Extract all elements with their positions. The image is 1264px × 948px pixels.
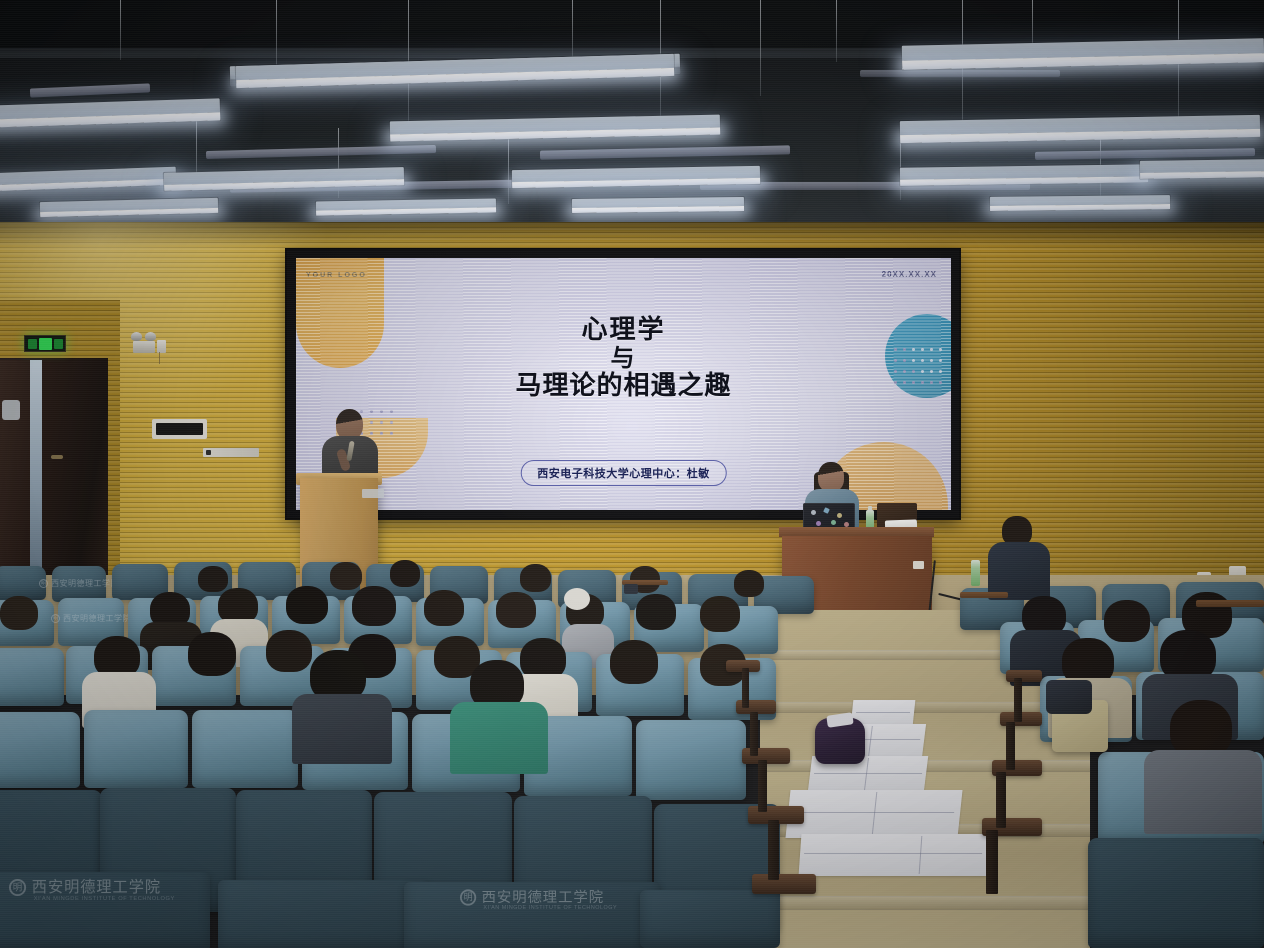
seat-logo-mark: 明 xyxy=(9,879,26,896)
armrest xyxy=(1006,670,1042,682)
door-gap-light xyxy=(30,360,42,574)
seat-brand-logo: 明 西安明德理工学院 XI'AN MINGDE INSTITUTE OF TEC… xyxy=(460,887,604,907)
seat-standard xyxy=(742,668,749,708)
seat[interactable] xyxy=(636,720,746,800)
wall-switch-plate[interactable] xyxy=(203,448,259,457)
table-label-plate xyxy=(913,561,924,569)
emergency-exit-icon xyxy=(24,335,66,352)
floor-paper-5 xyxy=(799,834,990,876)
seat-brand-logo: 明 西安明德理工学院 xyxy=(51,613,131,624)
seat-standard xyxy=(750,712,758,756)
seat-brand-cn: 西安明德理工学院 xyxy=(63,613,131,624)
door-open-panel[interactable] xyxy=(0,360,30,574)
lecture-hall-photo: YOUR LOGO 20XX.XX.XX 心理学 与 马理论的相遇之趣 西安电子… xyxy=(0,0,1264,948)
seat-standard xyxy=(986,830,998,894)
intercom-wire xyxy=(159,352,160,364)
backpack-on-steps xyxy=(815,718,865,764)
wall-vent-icon xyxy=(152,419,207,439)
emergency-light-box xyxy=(133,341,155,353)
emergency-light-icon xyxy=(131,332,157,341)
seat[interactable] xyxy=(1088,838,1264,948)
podium-side-shelf xyxy=(362,489,384,498)
water-bottle-floor xyxy=(971,560,980,586)
bag-strap xyxy=(1046,680,1092,714)
seat-back[interactable] xyxy=(218,880,430,948)
seat[interactable]: 明 西安明德理工学院 xyxy=(52,566,106,602)
seat[interactable] xyxy=(0,648,64,706)
seat-back-with-logo[interactable]: 明 西安明德理工学院 XI'AN MINGDE INSTITUTE OF TEC… xyxy=(404,882,660,948)
slide-date: 20XX.XX.XX xyxy=(882,270,937,279)
wall-top-shadow xyxy=(0,222,1264,248)
seat-standard xyxy=(996,772,1006,828)
seat-standard xyxy=(768,820,779,880)
shoe-on-floor xyxy=(2,400,20,420)
seat-brand-logo: 明 西安明德理工学院 XI'AN MINGDE INSTITUTE OF TEC… xyxy=(9,877,161,898)
seat-standard xyxy=(758,760,767,812)
row-desk xyxy=(1196,600,1264,607)
seat-brand-en: XI'AN MINGDE INSTITUTE OF TECHNOLOGY xyxy=(34,894,175,902)
seat-back-with-logo[interactable]: 明 西安明德理工学院 XI'AN MINGDE INSTITUTE OF TEC… xyxy=(0,872,210,948)
panelist-head xyxy=(818,462,844,492)
seat-standard xyxy=(1006,722,1015,770)
phone-icon[interactable] xyxy=(624,584,638,594)
slide-title-line-1: 心理学 xyxy=(296,316,951,345)
slide-title-line-3: 马理论的相遇之趣 xyxy=(296,372,951,401)
seat[interactable] xyxy=(84,710,188,788)
seat-brand-cn: 西安明德理工学院 xyxy=(32,877,161,898)
seat-logo-mark: 明 xyxy=(460,889,476,905)
slide-subtitle-pill: 西安电子科技大学心理中心：杜敏 xyxy=(520,460,727,486)
slide-title: 心理学 与 马理论的相遇之趣 xyxy=(296,316,951,402)
row-desk xyxy=(960,592,1008,598)
seat-brand-cn: 西安明德理工学院 xyxy=(482,887,604,907)
slide-title-line-2: 与 xyxy=(296,345,951,372)
seat[interactable] xyxy=(0,566,46,600)
door-handle[interactable] xyxy=(51,455,63,459)
entrance-door[interactable] xyxy=(42,358,108,576)
seat[interactable] xyxy=(0,712,80,788)
ceiling xyxy=(0,0,1264,238)
seat-brand-en: XI'AN MINGDE INSTITUTE OF TECHNOLOGY xyxy=(483,904,617,911)
floor-paper-4 xyxy=(785,790,962,838)
seat-standard xyxy=(1014,678,1022,722)
logo-placeholder-text: YOUR LOGO xyxy=(306,272,367,279)
seat[interactable] xyxy=(192,710,298,788)
seat-back[interactable] xyxy=(640,890,780,948)
armrest xyxy=(752,874,816,894)
